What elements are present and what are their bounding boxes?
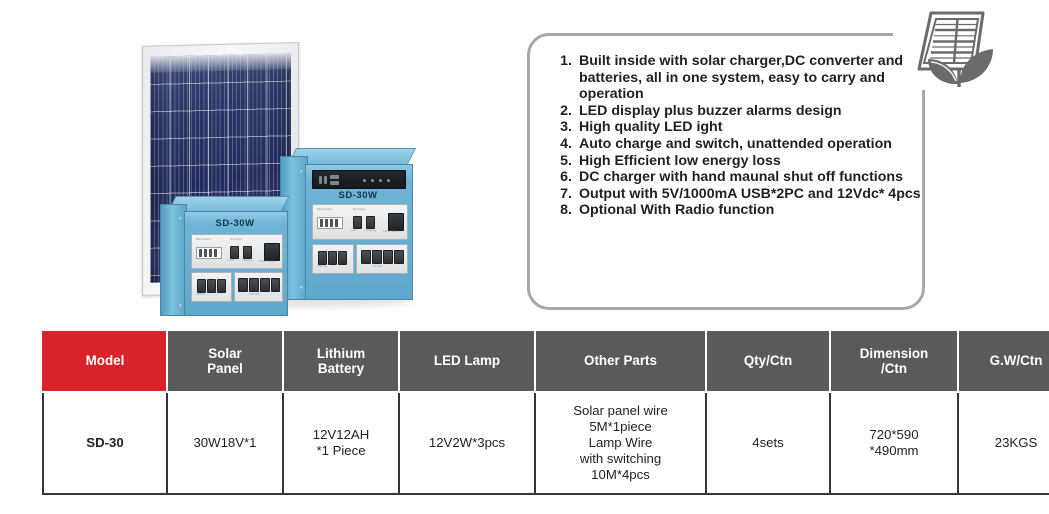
cell-model: SD-30 (43, 392, 167, 494)
feature-number: 6. (558, 169, 572, 186)
power-switch-rear (388, 213, 404, 231)
feature-item: 2.LED display plus buzzer alarms design (558, 103, 930, 120)
column-header-other-parts: Other Parts (535, 330, 706, 392)
feature-item: 5.High Efficient low energy loss (558, 153, 930, 170)
header-line: Model (46, 353, 164, 369)
column-header-dimension-ctn: Dimension /Ctn (830, 330, 958, 392)
cell-line: with switching (539, 451, 702, 467)
cell-line: Solar panel wire (539, 403, 702, 419)
feature-number: 7. (558, 186, 572, 203)
control-box-front-side (160, 204, 187, 316)
cell-line: *490mm (834, 443, 954, 459)
feature-number: 5. (558, 153, 572, 170)
feature-number: 8. (558, 202, 572, 219)
header-line: G.W/Ctn (961, 353, 1049, 369)
feature-text: Auto charge and switch, unattended opera… (579, 136, 892, 152)
column-header-qty-ctn: Qty/Ctn (706, 330, 830, 392)
control-box-rear-screw-top (300, 170, 303, 173)
feature-item: 1.Built inside with solar charger,DC con… (558, 53, 930, 103)
column-header-gw-ctn: G.W/Ctn (958, 330, 1049, 392)
feature-text: High quality LED ight (579, 119, 722, 135)
cell-line: Lamp Wire (539, 435, 702, 451)
control-box-front-screw-top (179, 217, 182, 220)
header-line: Battery (286, 361, 396, 377)
feature-text: High Efficient low energy loss (579, 153, 781, 169)
cell-other-parts: Solar panel wire 5M*1piece Lamp Wire wit… (535, 392, 706, 494)
feature-item: 3.High quality LED ight (558, 119, 930, 136)
column-header-lithium-battery: Lithium Battery (283, 330, 399, 392)
feature-item: 6.DC charger with hand maunal shut off f… (558, 169, 930, 186)
cell-qty-ctn: 4sets (706, 392, 830, 494)
cell-line: *1 Piece (287, 443, 395, 459)
control-box-rear-model-label: SD-30W (305, 190, 411, 201)
solar-panel-leaf-icon (903, 6, 1021, 92)
cell-line: 5M*1piece (539, 419, 702, 435)
feature-number: 4. (558, 136, 572, 153)
feature-number: 1. (558, 53, 572, 70)
spec-table-wrapper: Model Solar Panel Lithium Battery LED La… (42, 329, 1005, 495)
power-switch-front (264, 243, 280, 261)
cell-solar-panel: 30W18V*1 (167, 392, 283, 494)
header-line: Dimension (833, 346, 955, 362)
cell-line: 720*590 (834, 427, 954, 443)
header-line: Solar (170, 346, 280, 362)
cell-line: 12V12AH (287, 427, 395, 443)
feature-text: Optional With Radio function (579, 202, 774, 218)
features-list: 1.Built inside with solar charger,DC con… (558, 53, 930, 219)
control-box-rear-dc-plate: DC 12V (356, 244, 408, 274)
spec-table-header-row: Model Solar Panel Lithium Battery LED La… (43, 330, 1049, 392)
header-line: LED Lamp (402, 353, 532, 369)
column-header-solar-panel: Solar Panel (167, 330, 283, 392)
feature-item: 4.Auto charge and switch, unattended ope… (558, 136, 930, 153)
control-box-front-indicator-plate: Batt Capacity DC Output Load Charging Po… (191, 234, 283, 269)
column-header-led-lamp: LED Lamp (399, 330, 535, 392)
cell-gw-ctn: 23KGS (958, 392, 1049, 494)
feature-number: 2. (558, 103, 572, 120)
cell-led-lamp: 12V2W*3pcs (399, 392, 535, 494)
control-box-front: SD-30W Batt Capacity DC Output Load Char… (160, 196, 296, 314)
feature-text: DC charger with hand maunal shut off fun… (579, 169, 903, 185)
battery-capacity-bar (317, 217, 343, 229)
column-header-model: Model (43, 330, 167, 392)
battery-capacity-bar-front (196, 247, 222, 259)
feature-text: LED display plus buzzer alarms design (579, 103, 842, 119)
feature-item: 7.Output with 5V/1000mA USB*2PC and 12Vd… (558, 186, 930, 203)
top-section: SD-30W Batt Capacity DC Output Load Char… (0, 0, 1049, 322)
control-box-front-usb-plate: USB 5V (191, 272, 232, 302)
feature-number: 3. (558, 119, 572, 136)
cell-lithium-battery: 12V12AH *1 Piece (283, 392, 399, 494)
control-box-front-dc-plate: DC 12V (234, 272, 283, 302)
table-row: SD-30 30W18V*1 12V12AH *1 Piece 12V2W*3p… (43, 392, 1049, 494)
product-photo: SD-30W Batt Capacity DC Output Load Char… (132, 36, 462, 311)
header-line: Qty/Ctn (709, 353, 827, 369)
header-line: Other Parts (538, 353, 703, 369)
header-line: Panel (170, 361, 280, 377)
feature-text: Built inside with solar charger,DC conve… (579, 53, 903, 102)
control-box-rear: SD-30W Batt Capacity DC Output Load Char… (280, 148, 422, 298)
control-box-rear-led-display (312, 170, 406, 189)
control-box-front-model-label: SD-30W (184, 218, 286, 229)
cell-dimension-ctn: 720*590 *490mm (830, 392, 958, 494)
control-box-front-screw-bottom (179, 304, 182, 307)
header-line: /Ctn (833, 361, 955, 377)
feature-item: 8.Optional With Radio function (558, 202, 930, 219)
control-box-rear-indicator-plate: Batt Capacity DC Output Load Charging Po… (312, 204, 408, 240)
control-box-rear-usb-plate: USB 5V (312, 244, 354, 274)
feature-text: Output with 5V/1000mA USB*2PC and 12Vdc*… (579, 186, 921, 202)
cell-line: 10M*4pcs (539, 467, 702, 483)
header-line: Lithium (286, 346, 396, 362)
spec-table: Model Solar Panel Lithium Battery LED La… (42, 329, 1049, 495)
control-box-rear-screw-bottom (300, 286, 303, 289)
